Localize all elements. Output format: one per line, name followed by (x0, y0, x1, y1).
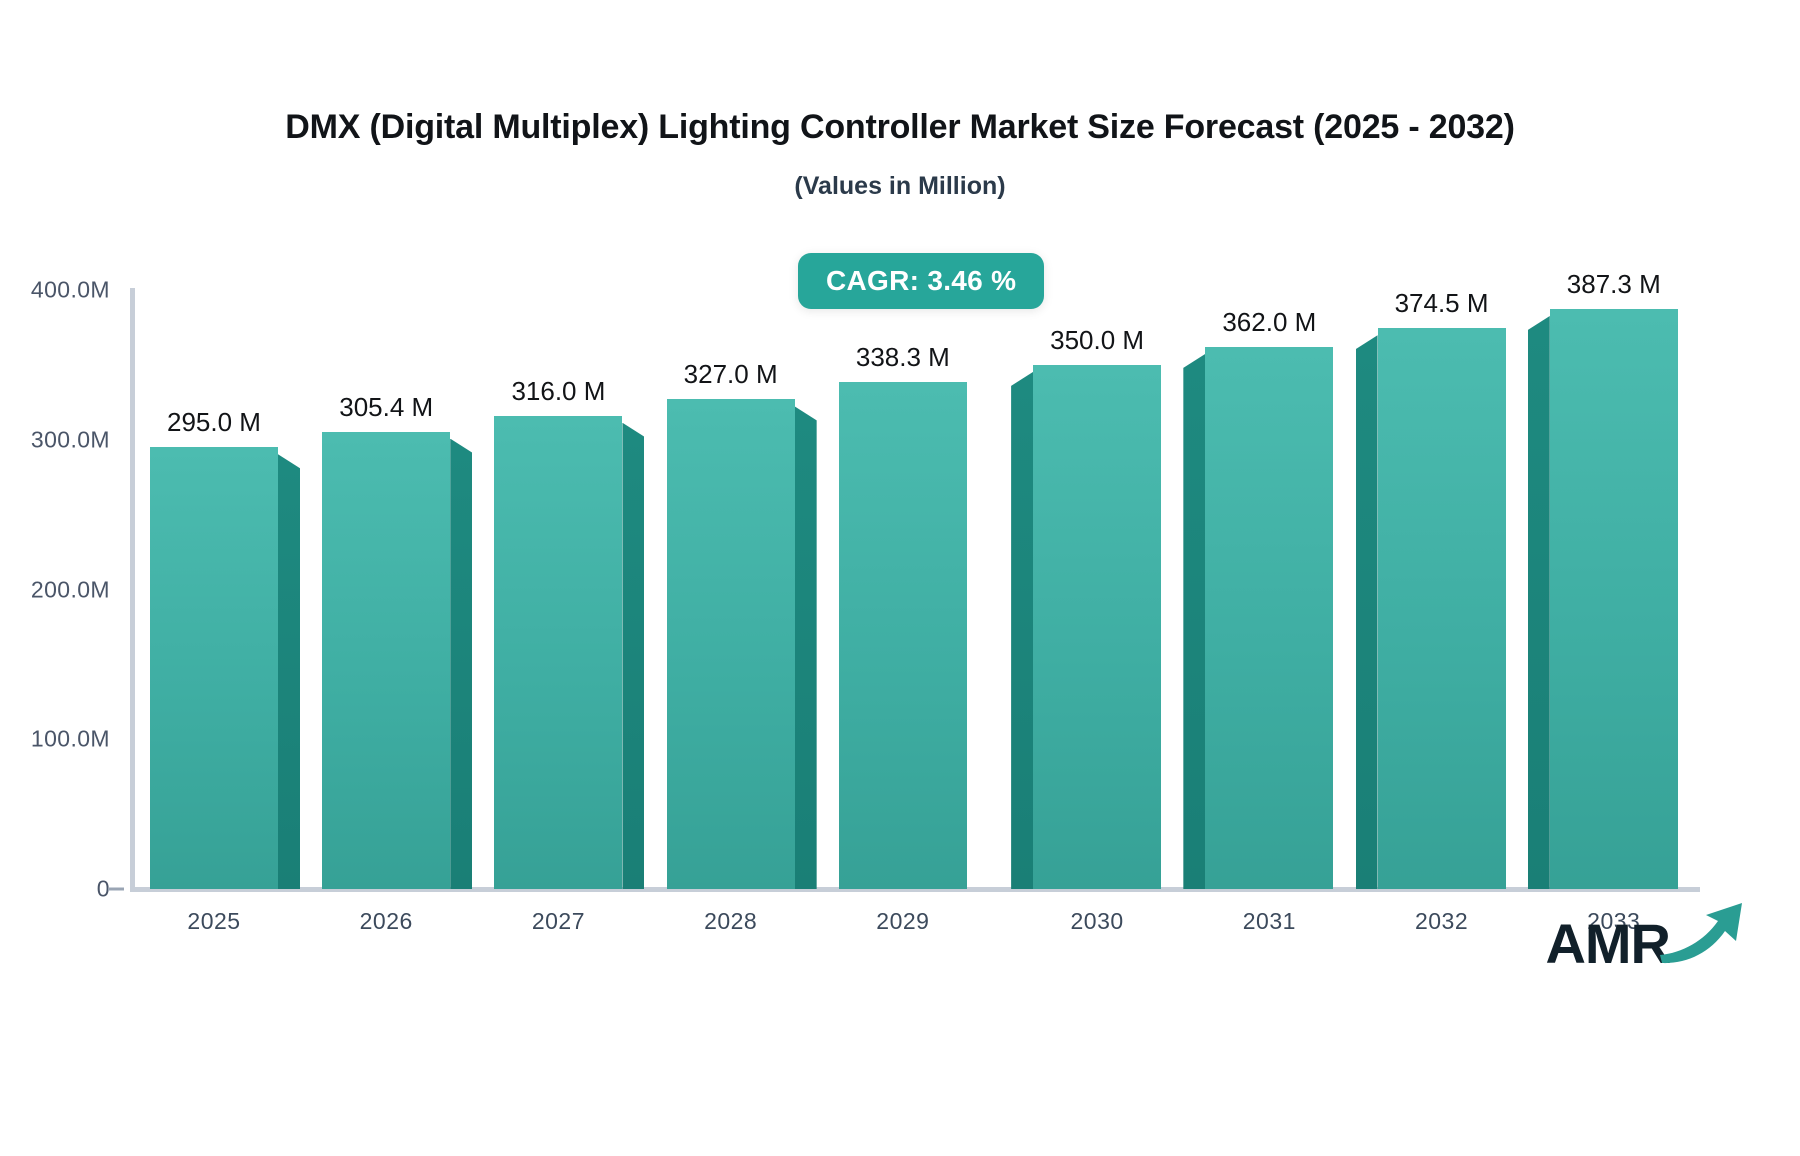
bar-depth-face (1183, 354, 1205, 889)
bar-front-face: 374.5 M (1378, 328, 1506, 889)
bar-column[interactable]: 295.0 M (150, 447, 300, 889)
x-axis-tick-label: 2026 (322, 908, 450, 935)
bar-column[interactable]: 316.0 M (494, 416, 644, 889)
bar-value-label: 338.3 M (839, 342, 967, 373)
bar-depth-face (1011, 372, 1033, 889)
bar-depth-face (450, 439, 472, 889)
bar-value-label: 327.0 M (667, 359, 795, 390)
y-axis-tick-label: 0 (0, 876, 110, 903)
bar-front-face: 316.0 M (494, 416, 622, 889)
y-axis-tick-label: 100.0M (0, 726, 110, 753)
bar-value-label: 295.0 M (150, 407, 278, 438)
bar-value-label: 362.0 M (1205, 307, 1333, 338)
bar-front-face: 327.0 M (667, 399, 795, 889)
bar-depth-face (622, 423, 644, 889)
bar-value-label: 316.0 M (494, 376, 622, 407)
bar-depth-face (278, 454, 300, 889)
bar-value-label: 374.5 M (1378, 288, 1506, 319)
bar-value-label: 350.0 M (1033, 325, 1161, 356)
bar-column[interactable]: 387.3 M (1528, 309, 1678, 889)
bar-front-face: 350.0 M (1033, 365, 1161, 889)
bar-column[interactable]: 305.4 M (322, 432, 472, 889)
y-axis-tick-label: 400.0M (0, 277, 110, 304)
x-axis-tick-label: 2027 (494, 908, 622, 935)
bar-value-label: 305.4 M (322, 392, 450, 423)
y-axis-line (130, 288, 135, 890)
bar-column[interactable]: 327.0 M (667, 399, 817, 889)
bar-front-face: 362.0 M (1205, 347, 1333, 889)
y-axis-tick-mark (108, 888, 124, 891)
cagr-badge: CAGR: 3.46 % (798, 253, 1044, 309)
bar-value-label: 387.3 M (1550, 269, 1678, 300)
bar-front-face: 387.3 M (1550, 309, 1678, 889)
x-axis-tick-label: 2028 (667, 908, 795, 935)
amr-logo: AMR (1545, 913, 1748, 974)
bar-column[interactable]: 338.3 M (839, 382, 989, 889)
y-axis-tick-label: 200.0M (0, 576, 110, 603)
x-axis-tick-label: 2031 (1205, 908, 1333, 935)
bar-column[interactable]: 362.0 M (1183, 347, 1333, 889)
bar-column[interactable]: 350.0 M (1011, 365, 1161, 889)
growth-arrow-icon (1656, 895, 1748, 974)
y-axis-tick-label: 300.0M (0, 426, 110, 453)
bar-depth-face (1528, 316, 1550, 889)
chart-canvas: DMX (Digital Multiplex) Lighting Control… (0, 0, 1800, 1156)
bar-front-face: 295.0 M (150, 447, 278, 889)
x-axis-tick-label: 2029 (839, 908, 967, 935)
bar-front-face: 338.3 M (839, 382, 967, 889)
x-axis-tick-label: 2025 (150, 908, 278, 935)
plot-area: 400.0M300.0M200.0M100.0M0 295.0 M305.4 M… (0, 0, 1800, 1156)
bar-front-face: 305.4 M (322, 432, 450, 889)
bar-depth-face (795, 406, 817, 889)
x-axis-tick-label: 2032 (1378, 908, 1506, 935)
x-axis-tick-label: 2030 (1033, 908, 1161, 935)
amr-logo-text: AMR (1545, 916, 1670, 972)
bar-depth-face (1356, 335, 1378, 889)
bar-column[interactable]: 374.5 M (1356, 328, 1506, 889)
cagr-badge-label: CAGR: 3.46 % (826, 265, 1016, 297)
